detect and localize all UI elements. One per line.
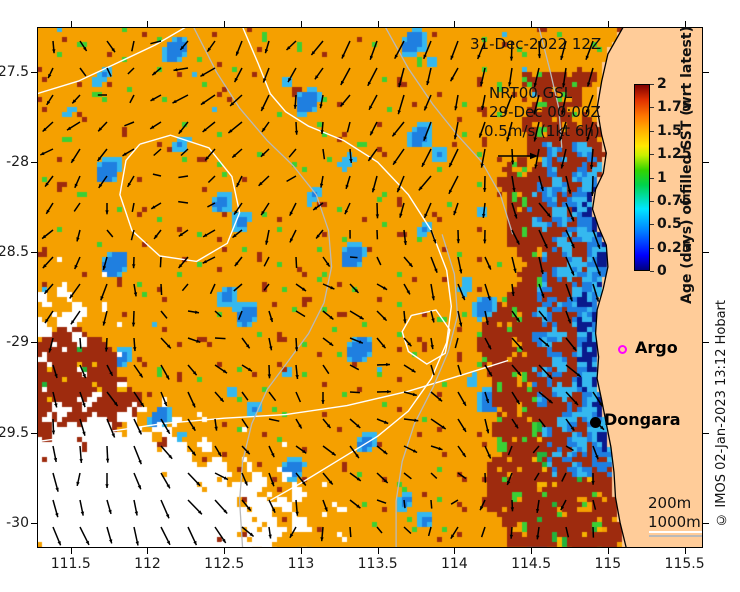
x-axis-tick bbox=[224, 21, 225, 27]
x-axis-tick bbox=[378, 548, 379, 554]
y-axis-tick bbox=[703, 433, 709, 434]
y-axis-label: -28.5 bbox=[0, 244, 29, 260]
colorbar-tick bbox=[650, 131, 654, 132]
y-axis-tick bbox=[703, 252, 709, 253]
x-axis-label: 115 bbox=[594, 556, 621, 572]
x-axis-tick bbox=[531, 548, 532, 554]
x-axis-tick bbox=[224, 548, 225, 554]
colorbar: 21.751.51.2510.750.50.250 bbox=[634, 84, 650, 271]
y-axis-tick bbox=[31, 523, 37, 524]
axes: 111.5112112.5113113.5114114.5115115.5-27… bbox=[0, 0, 740, 592]
x-axis-tick bbox=[147, 21, 148, 27]
y-axis-label: -29.5 bbox=[0, 425, 29, 441]
x-axis-label: 113 bbox=[288, 556, 315, 572]
colorbar-tick bbox=[650, 154, 654, 155]
x-axis-tick bbox=[454, 548, 455, 554]
colorbar-title: Age (days) of filled SST (wrt latest) bbox=[676, 20, 698, 310]
y-axis-label: -29 bbox=[6, 334, 29, 350]
colorbar-tick bbox=[650, 271, 654, 272]
x-axis-tick bbox=[608, 21, 609, 27]
x-axis-tick bbox=[147, 548, 148, 554]
x-axis-label: 115.5 bbox=[665, 556, 705, 572]
x-axis-tick bbox=[608, 548, 609, 554]
x-axis-label: 113.5 bbox=[358, 556, 398, 572]
x-axis-label: 114 bbox=[441, 556, 468, 572]
y-axis-label: -30 bbox=[6, 515, 29, 531]
colorbar-tick-label: 0 bbox=[657, 263, 667, 279]
x-axis-label: 114.5 bbox=[511, 556, 551, 572]
y-axis-tick bbox=[703, 523, 709, 524]
y-axis-tick bbox=[703, 162, 709, 163]
x-axis-tick bbox=[301, 548, 302, 554]
colorbar-tick bbox=[650, 178, 654, 179]
x-axis-tick bbox=[531, 21, 532, 27]
x-axis-tick bbox=[301, 21, 302, 27]
y-axis-tick bbox=[31, 342, 37, 343]
copyright-notice: © IMOS 02-Jan-2023 13:12 Hobart bbox=[714, 300, 729, 527]
colorbar-gradient bbox=[634, 84, 650, 271]
y-axis-label: -27.5 bbox=[0, 64, 29, 80]
x-axis-label: 112.5 bbox=[204, 556, 244, 572]
x-axis-tick bbox=[454, 21, 455, 27]
y-axis-label: -28 bbox=[6, 154, 29, 170]
colorbar-tick-label: 2 bbox=[657, 76, 667, 92]
colorbar-tick-label: 1 bbox=[657, 170, 667, 186]
x-axis-label: 111.5 bbox=[51, 556, 91, 572]
colorbar-tick bbox=[650, 201, 654, 202]
colorbar-tick bbox=[650, 224, 654, 225]
y-axis-tick bbox=[31, 162, 37, 163]
colorbar-tick bbox=[650, 107, 654, 108]
y-axis-tick bbox=[703, 72, 709, 73]
y-axis-tick bbox=[31, 252, 37, 253]
colorbar-tick bbox=[650, 84, 654, 85]
x-axis-tick bbox=[71, 21, 72, 27]
colorbar-tick bbox=[650, 248, 654, 249]
y-axis-tick bbox=[31, 433, 37, 434]
x-axis-tick bbox=[685, 548, 686, 554]
x-axis-tick bbox=[71, 548, 72, 554]
y-axis-tick bbox=[31, 72, 37, 73]
x-axis-tick bbox=[378, 21, 379, 27]
y-axis-tick bbox=[703, 342, 709, 343]
x-axis-label: 112 bbox=[134, 556, 161, 572]
